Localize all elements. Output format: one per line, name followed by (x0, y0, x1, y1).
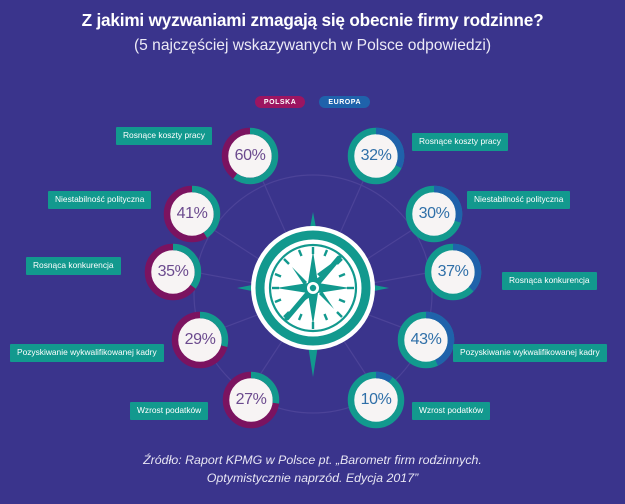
donut-value: 32% (344, 124, 408, 188)
label-polska-rosnaca-konkurencja: Rosnąca konkurencja (26, 257, 121, 275)
label-polska-rosnace-koszty-pracy: Rosnące koszty pracy (116, 127, 212, 145)
label-europa-niestabilnosc-polityczna: Niestabilność polityczna (467, 191, 570, 209)
label-polska-pozyskiwanie-kadry: Pozyskiwanie wykwalifikowanej kadry (10, 344, 164, 362)
source-line-1: Źródło: Raport KPMG w Polsce pt. „Barome… (0, 452, 625, 470)
donut-value: 43% (394, 308, 458, 372)
donut-polska-1: 41% (160, 182, 224, 246)
legend-item-polska: POLSKA (255, 96, 305, 108)
donut-value: 41% (160, 182, 224, 246)
infographic-canvas: Z jakimi wyzwaniami zmagają się obecnie … (0, 0, 625, 504)
source-line-2: Optymistycznie naprzód. Edycja 2017” (0, 470, 625, 488)
label-europa-wzrost-podatkow: Wzrost podatków (412, 402, 490, 420)
donut-value: 10% (344, 368, 408, 432)
donut-value: 27% (219, 368, 283, 432)
header: Z jakimi wyzwaniami zmagają się obecnie … (0, 10, 625, 56)
legend: POLSKA EUROPA (0, 96, 625, 108)
donut-value: 30% (402, 182, 466, 246)
donut-europa-3: 43% (394, 308, 458, 372)
source-note: Źródło: Raport KPMG w Polsce pt. „Barome… (0, 452, 625, 487)
donut-value: 60% (218, 124, 282, 188)
donut-europa-1: 30% (402, 182, 466, 246)
donut-polska-3: 29% (168, 308, 232, 372)
page-subtitle: (5 najczęściej wskazywanych w Polsce odp… (0, 35, 625, 56)
legend-item-europa: EUROPA (319, 96, 370, 108)
compass-icon (237, 212, 389, 377)
label-polska-niestabilnosc-polityczna: Niestabilność polityczna (48, 191, 151, 209)
label-europa-rosnace-koszty-pracy: Rosnące koszty pracy (412, 133, 508, 151)
donut-europa-0: 32% (344, 124, 408, 188)
donut-polska-4: 27% (219, 368, 283, 432)
donut-europa-2: 37% (421, 240, 485, 304)
donut-polska-0: 60% (218, 124, 282, 188)
donut-polska-2: 35% (141, 240, 205, 304)
label-polska-wzrost-podatkow: Wzrost podatków (130, 402, 208, 420)
donut-value: 29% (168, 308, 232, 372)
donut-value: 35% (141, 240, 205, 304)
donut-value: 37% (421, 240, 485, 304)
donut-europa-4: 10% (344, 368, 408, 432)
label-europa-rosnaca-konkurencja: Rosnąca konkurencja (502, 272, 597, 290)
page-title: Z jakimi wyzwaniami zmagają się obecnie … (0, 10, 625, 32)
label-europa-pozyskiwanie-kadry: Pozyskiwanie wykwalifikowanej kadry (453, 344, 607, 362)
